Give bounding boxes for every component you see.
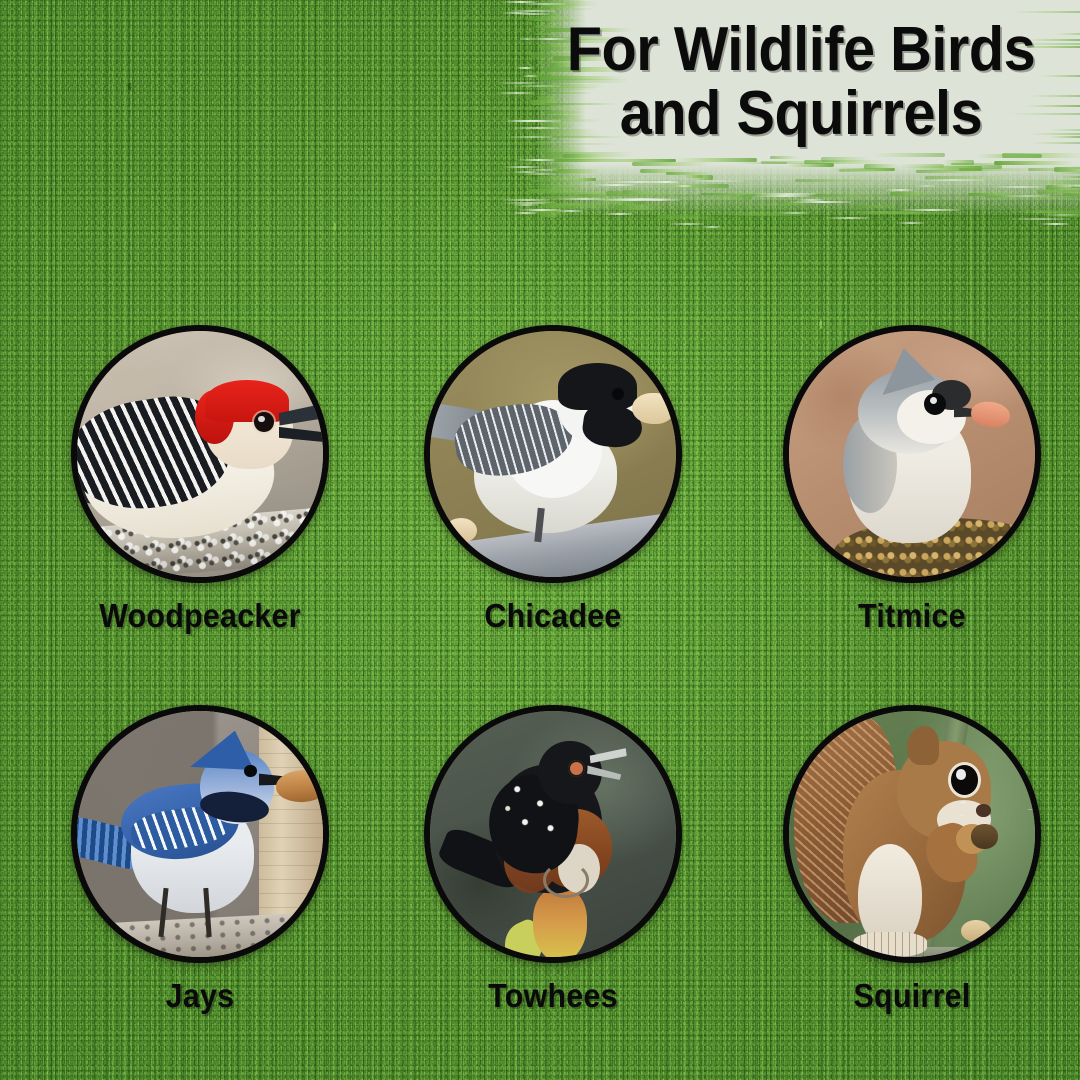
species-gallery: Woodpeacker Chicadee xyxy=(0,325,1080,1080)
species-card-squirrel[interactable]: Squirrel xyxy=(732,705,1080,1015)
species-photo-frame[interactable] xyxy=(424,325,682,583)
species-label: Towhees xyxy=(387,977,718,1015)
species-card-chicadee[interactable]: Chicadee xyxy=(373,325,733,635)
species-card-towhees[interactable]: Towhees xyxy=(373,705,733,1015)
woodpecker-photo xyxy=(77,331,323,577)
species-label: Chicadee xyxy=(387,597,718,635)
species-photo-frame[interactable] xyxy=(71,705,329,963)
species-label: Squirrel xyxy=(746,977,1077,1015)
gallery-row: Jays Towhees xyxy=(0,705,1080,1080)
species-label: Titmice xyxy=(746,597,1077,635)
species-photo-frame[interactable] xyxy=(783,325,1041,583)
page-title: For Wildlife Birds and Squirrels xyxy=(555,18,1048,147)
species-photo-frame[interactable] xyxy=(71,325,329,583)
header-banner: For Wildlife Birds and Squirrels xyxy=(528,0,1080,216)
gallery-row: Woodpeacker Chicadee xyxy=(0,325,1080,705)
poster-canvas: For Wildlife Birds and Squirrels Woodpea… xyxy=(0,0,1080,1080)
species-label: Woodpeacker xyxy=(34,597,365,635)
species-card-woodpeacker[interactable]: Woodpeacker xyxy=(20,325,380,635)
chickadee-photo xyxy=(430,331,676,577)
species-card-jays[interactable]: Jays xyxy=(20,705,380,1015)
species-photo-frame[interactable] xyxy=(783,705,1041,963)
species-photo-frame[interactable] xyxy=(424,705,682,963)
titmouse-photo xyxy=(789,331,1035,577)
bluejay-photo xyxy=(77,711,323,957)
species-label: Jays xyxy=(34,977,365,1015)
towhee-photo xyxy=(430,711,676,957)
species-card-titmice[interactable]: Titmice xyxy=(732,325,1080,635)
squirrel-photo xyxy=(789,711,1035,957)
